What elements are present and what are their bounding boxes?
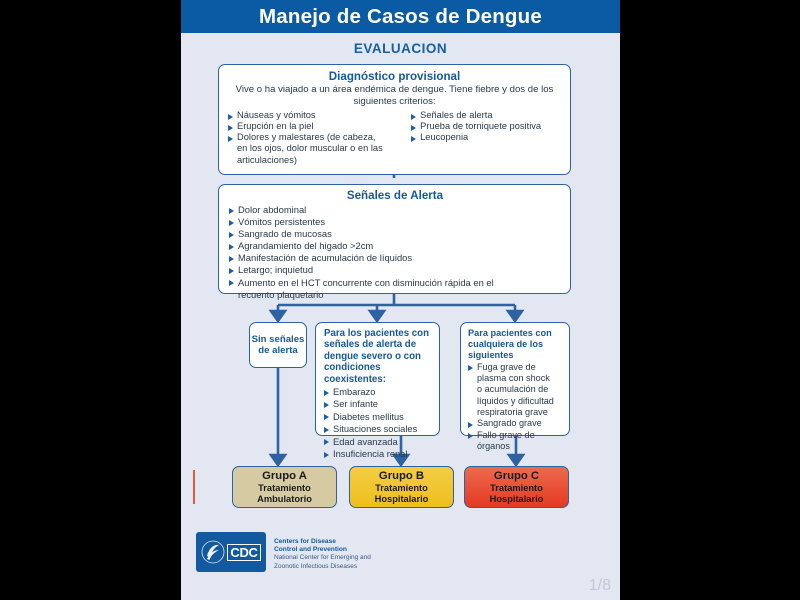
- list-item-cont: en los ojos, dolor muscular o en las: [228, 143, 411, 154]
- grave-list: Fuga grave de plasma con shock o acumula…: [468, 362, 563, 452]
- list-item-cont: recuento plaquetario: [229, 289, 561, 301]
- list-item: Fallo grave de órganos: [468, 430, 563, 453]
- severo-list: Embarazo Ser infante Diabetes mellitus S…: [324, 386, 432, 460]
- list-item: Agrandamiento del higado >2cm: [229, 240, 561, 252]
- list-item: Vómitos persistentes: [229, 216, 561, 228]
- box-grave-title: Para pacientes con cualquiera de los sig…: [468, 328, 563, 361]
- group-a-name: Grupo A: [262, 470, 307, 483]
- slide-canvas: Manejo de Casos de Dengue EVALUACION: [181, 0, 620, 600]
- list-item: Situaciones sociales: [324, 423, 432, 435]
- group-box-c: Grupo C Tratamiento Hospitalario: [464, 466, 569, 508]
- cdc-badge-text: CDC: [227, 544, 261, 561]
- list-item: Aumento en el HCT concurrente con dismin…: [229, 277, 561, 289]
- box-severo-title: Para los pacientes con señales de alerta…: [324, 328, 432, 385]
- group-box-a: Grupo A Tratamiento Ambulatorio: [232, 466, 337, 508]
- red-tick-marker: [193, 470, 195, 504]
- list-item: Embarazo: [324, 386, 432, 398]
- list-item-cont: líquidos y dificultad: [468, 396, 563, 407]
- list-item: Náuseas y vómitos: [228, 110, 411, 121]
- list-item: Insuficiencia renal: [324, 448, 432, 460]
- list-item: Letargo; inquietud: [229, 264, 561, 276]
- page-number: 1/8: [589, 577, 611, 595]
- box-diagnostico-lead: Vive o ha viajado a un área endémica de …: [228, 84, 561, 107]
- group-b-sub2: Hospitalario: [375, 494, 429, 505]
- list-item-cont: respiratoria grave: [468, 407, 563, 418]
- group-b-sub1: Tratamiento: [375, 483, 428, 494]
- list-item: Señales de alerta: [411, 110, 561, 121]
- senales-alerta-list: Dolor abdominal Vómitos persistentes San…: [229, 204, 561, 301]
- list-item: Prueba de torniquete positiva: [411, 121, 561, 132]
- group-c-sub2: Hospitalario: [490, 494, 544, 505]
- group-a-sub2: Ambulatorio: [257, 494, 312, 505]
- list-item: Dolor abdominal: [229, 204, 561, 216]
- group-a-sub1: Tratamiento: [258, 483, 311, 494]
- hhs-seal-icon: [201, 539, 225, 565]
- cdc-line-3: National Center for Emerging and: [274, 554, 434, 562]
- list-item: Sangrado de mucosas: [229, 228, 561, 240]
- list-item: Erupción en la piel: [228, 121, 411, 132]
- box-dengue-grave: Para pacientes con cualquiera de los sig…: [460, 322, 570, 436]
- box-sin-senales-de-alerta: Sin señales de alerta: [249, 322, 307, 368]
- diagnostico-criteria-right: Señales de alerta Prueba de torniquete p…: [411, 110, 561, 165]
- box-sin-senales-title: Sin señales de alerta: [250, 334, 306, 357]
- list-item: Edad avanzada: [324, 436, 432, 448]
- list-item-cont: articulaciones): [228, 155, 411, 166]
- box-senales-de-alerta: Señales de Alerta Dolor abdominal Vómito…: [218, 184, 571, 294]
- cdc-line-4: Zoonotic Infectious Diseases: [274, 563, 434, 571]
- box-alerta-title: Señales de Alerta: [229, 189, 561, 202]
- group-c-name: Grupo C: [494, 470, 539, 483]
- list-item-cont: o acumulación de: [468, 384, 563, 395]
- cdc-line-1: Centers for Disease: [274, 538, 434, 546]
- group-c-sub1: Tratamiento: [490, 483, 543, 494]
- box-dengue-severo: Para los pacientes con señales de alerta…: [315, 322, 440, 436]
- list-item: Fuga grave de: [468, 362, 563, 373]
- box-diagnostico-provisional: Diagnóstico provisional Vive o ha viajad…: [218, 64, 571, 175]
- list-item: Sangrado grave: [468, 418, 563, 429]
- list-item: Ser infante: [324, 398, 432, 410]
- box-diagnostico-title: Diagnóstico provisional: [228, 70, 561, 83]
- cdc-line-2: Control and Prevention: [274, 546, 434, 554]
- list-item: Manifestación de acumulación de líquidos: [229, 252, 561, 264]
- list-item: Diabetes mellitus: [324, 411, 432, 423]
- diagnostico-criteria-left: Náuseas y vómitos Erupción en la piel Do…: [228, 110, 411, 165]
- list-item: Dolores y malestares (de cabeza,: [228, 132, 411, 143]
- group-b-name: Grupo B: [379, 470, 424, 483]
- cdc-agency-text: Centers for Disease Control and Preventi…: [274, 538, 434, 571]
- cdc-logo: CDC: [196, 532, 266, 572]
- list-item: Leucopenia: [411, 132, 561, 143]
- list-item-cont: plasma con shock: [468, 373, 563, 384]
- group-box-b: Grupo B Tratamiento Hospitalario: [349, 466, 454, 508]
